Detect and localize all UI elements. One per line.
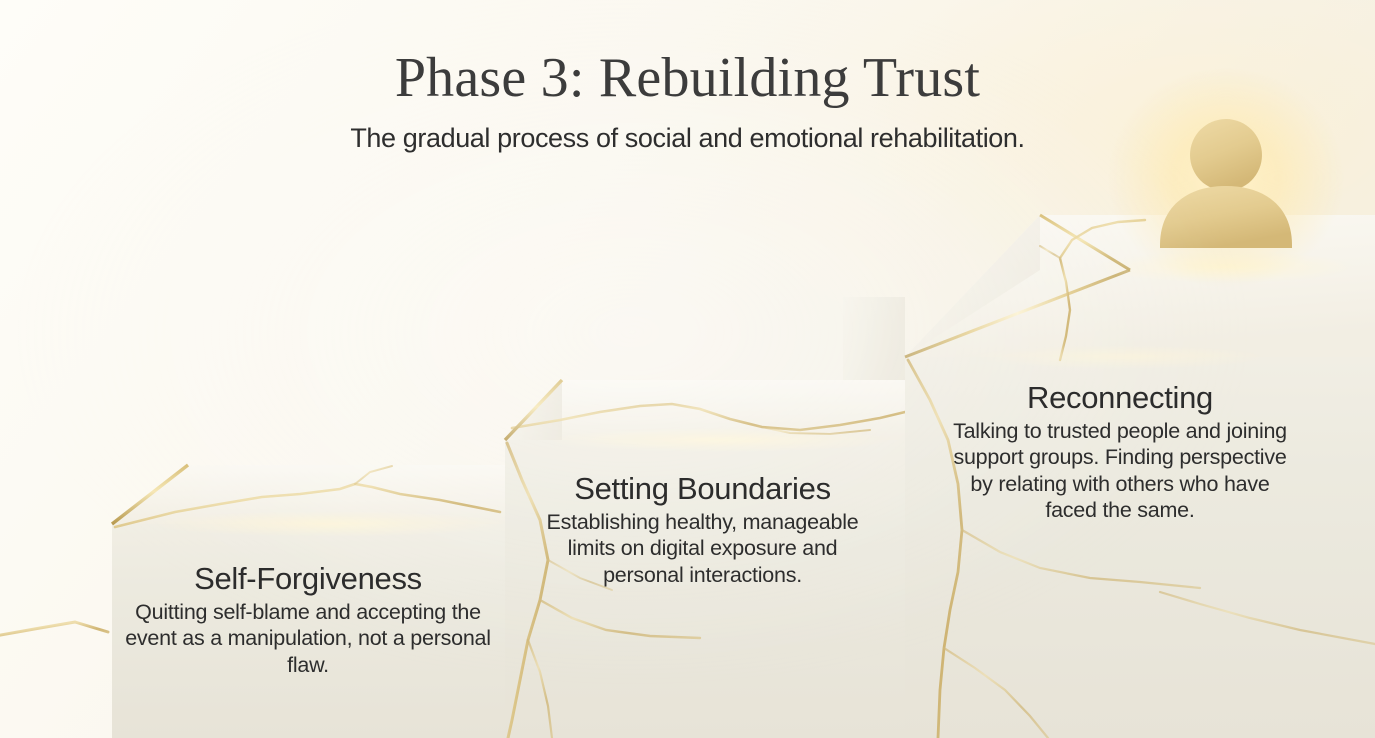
- step-1-heading: Self-Forgiveness: [118, 562, 498, 597]
- step-2-heading: Setting Boundaries: [525, 472, 880, 507]
- step-3-text: Reconnecting Talking to trusted people a…: [945, 381, 1295, 523]
- step-2-text: Setting Boundaries Establishing healthy,…: [525, 472, 880, 588]
- page-title: Phase 3: Rebuilding Trust: [0, 48, 1375, 108]
- step-1-text: Self-Forgiveness Quitting self-blame and…: [118, 562, 498, 678]
- step-3-heading: Reconnecting: [945, 381, 1295, 416]
- step-3-body: Talking to trusted people and joining su…: [945, 418, 1295, 524]
- infographic-canvas: Phase 3: Rebuilding Trust The gradual pr…: [0, 0, 1375, 738]
- step-1-body: Quitting self-blame and accepting the ev…: [118, 599, 498, 678]
- step-riser-block: [843, 297, 905, 380]
- page-subtitle: The gradual process of social and emotio…: [0, 122, 1375, 154]
- step-2-body: Establishing healthy, manageable limits …: [525, 509, 880, 588]
